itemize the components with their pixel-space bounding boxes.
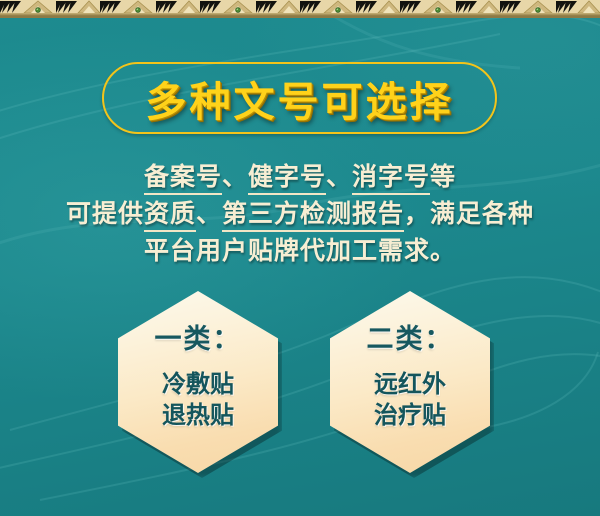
term-third-party-report: 第三方检测报告 bbox=[222, 199, 404, 232]
category-1-title: 一类： bbox=[155, 317, 242, 356]
body-line-1-tail: 等 bbox=[430, 162, 456, 191]
term-beianhao: 备案号 bbox=[144, 162, 222, 195]
term-xiaozihao: 消字号 bbox=[352, 162, 430, 195]
category-2-items: 远红外 治疗贴 bbox=[374, 368, 446, 430]
sep-2: 、 bbox=[326, 162, 352, 191]
body-line-1: 备案号、健字号、消字号等 bbox=[0, 158, 600, 195]
border-bottom-rule bbox=[0, 13, 600, 16]
body-copy: 备案号、健字号、消字号等 可提供资质、第三方检测报告，满足各种 平台用户贴牌代加… bbox=[0, 158, 600, 269]
page-title: 多种文号可选择 bbox=[102, 62, 497, 134]
category-2-item-1: 远红外 bbox=[374, 368, 446, 399]
sep-1: 、 bbox=[222, 162, 248, 191]
category-2-title: 二类： bbox=[367, 317, 454, 356]
category-1-item-2: 退热贴 bbox=[162, 399, 234, 430]
body-line-3: 平台用户贴牌代加工需求。 bbox=[0, 232, 600, 269]
body-line-2: 可提供资质、第三方检测报告，满足各种 bbox=[0, 195, 600, 232]
body-line-2-tail: ，满足各种 bbox=[404, 199, 534, 228]
category-1-items: 冷敷贴 退热贴 bbox=[162, 368, 234, 430]
category-2-item-2: 治疗贴 bbox=[374, 399, 446, 430]
sep-3: 、 bbox=[196, 199, 222, 228]
category-1-item-1: 冷敷贴 bbox=[162, 368, 234, 399]
body-line-2-head: 可提供 bbox=[66, 199, 144, 228]
term-jianzihao: 健字号 bbox=[248, 162, 326, 195]
term-zizhi: 资质 bbox=[144, 199, 196, 232]
poster-canvas: 多种文号可选择 备案号、健字号、消字号等 可提供资质、第三方检测报告，满足各种 … bbox=[0, 0, 600, 516]
top-ornamental-border bbox=[0, 0, 600, 18]
